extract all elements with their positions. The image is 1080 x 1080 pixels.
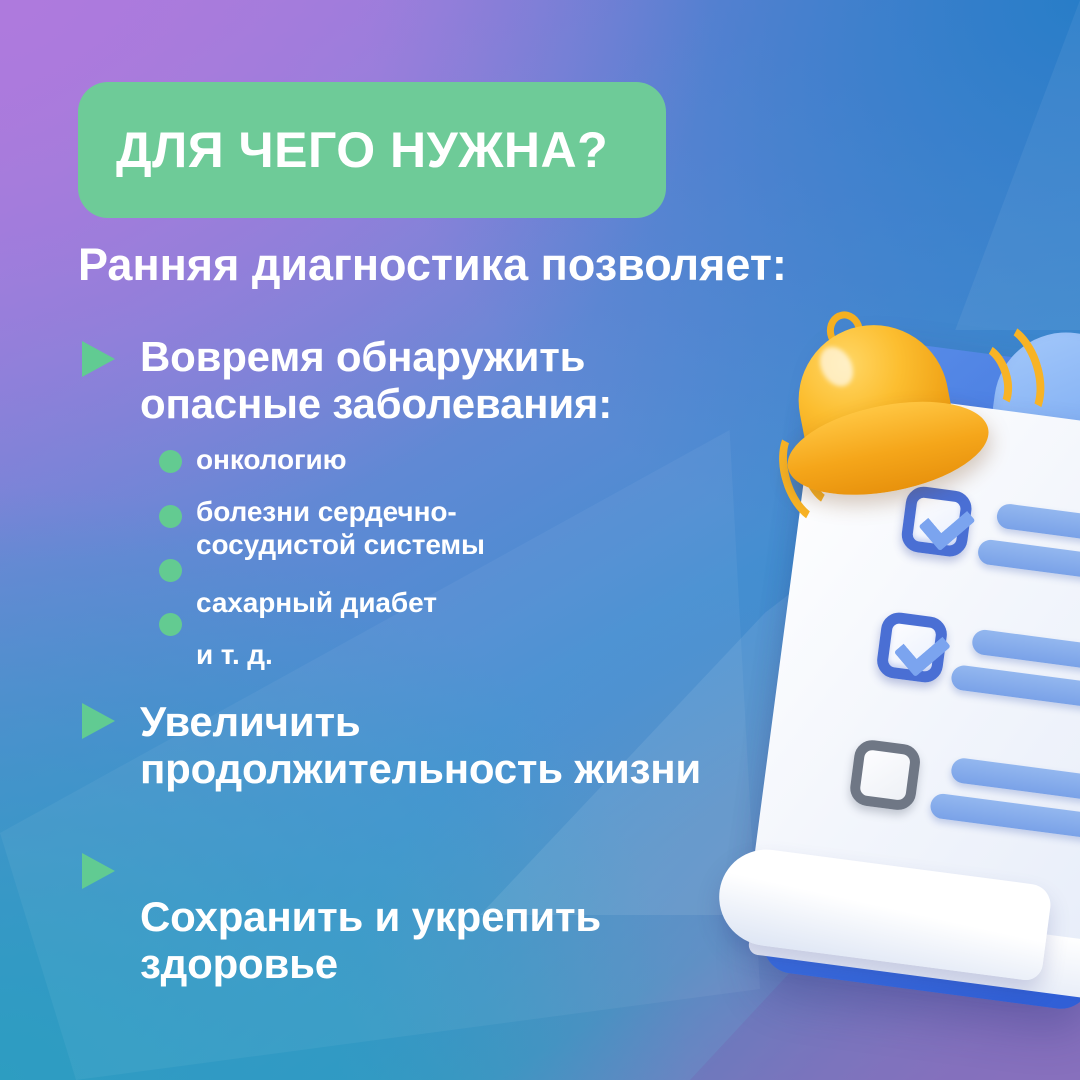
bell-icon (779, 284, 1045, 534)
checkbox-unchecked-icon (848, 738, 922, 812)
checkmark-icon (894, 622, 951, 678)
disease-item: онкологию (196, 444, 346, 477)
text-line-bar (995, 503, 1080, 548)
triangle-bullet-icon (82, 341, 115, 377)
page-title: ДЛЯ ЧЕГО НУЖНА? (116, 125, 608, 175)
benefit-heading-2: Увеличить продолжительность жизни (140, 698, 740, 792)
title-badge: ДЛЯ ЧЕГО НУЖНА? (78, 82, 666, 218)
disease-item: болезни сердечно-сосудистой системы (196, 496, 556, 562)
disease-item: сахарный диабет (196, 587, 437, 620)
text-line-bar (950, 664, 1080, 713)
triangle-bullet-icon (82, 703, 115, 739)
text-line-bar (929, 792, 1080, 842)
checkbox-checked-icon (875, 610, 949, 684)
disease-item: и т. д. (196, 639, 273, 672)
clipboard-illustration (755, 290, 1080, 1080)
dot-bullet-icon (159, 613, 182, 636)
text-line-bar (977, 538, 1080, 587)
triangle-bullet-icon (82, 853, 115, 889)
dot-bullet-icon (159, 450, 182, 473)
poster-canvas: ДЛЯ ЧЕГО НУЖНА? Ранняя диагностика позво… (0, 0, 1080, 1080)
text-line-bar (971, 628, 1080, 671)
benefit-heading-3: Сохранить и укрепить здоровье (140, 893, 740, 987)
subtitle: Ранняя диагностика позволяет: (78, 240, 978, 290)
dot-bullet-icon (159, 559, 182, 582)
dot-bullet-icon (159, 505, 182, 528)
benefit-heading-1: Вовремя обнаружить опасные заболевания: (140, 333, 700, 427)
text-line-bar (950, 757, 1080, 801)
